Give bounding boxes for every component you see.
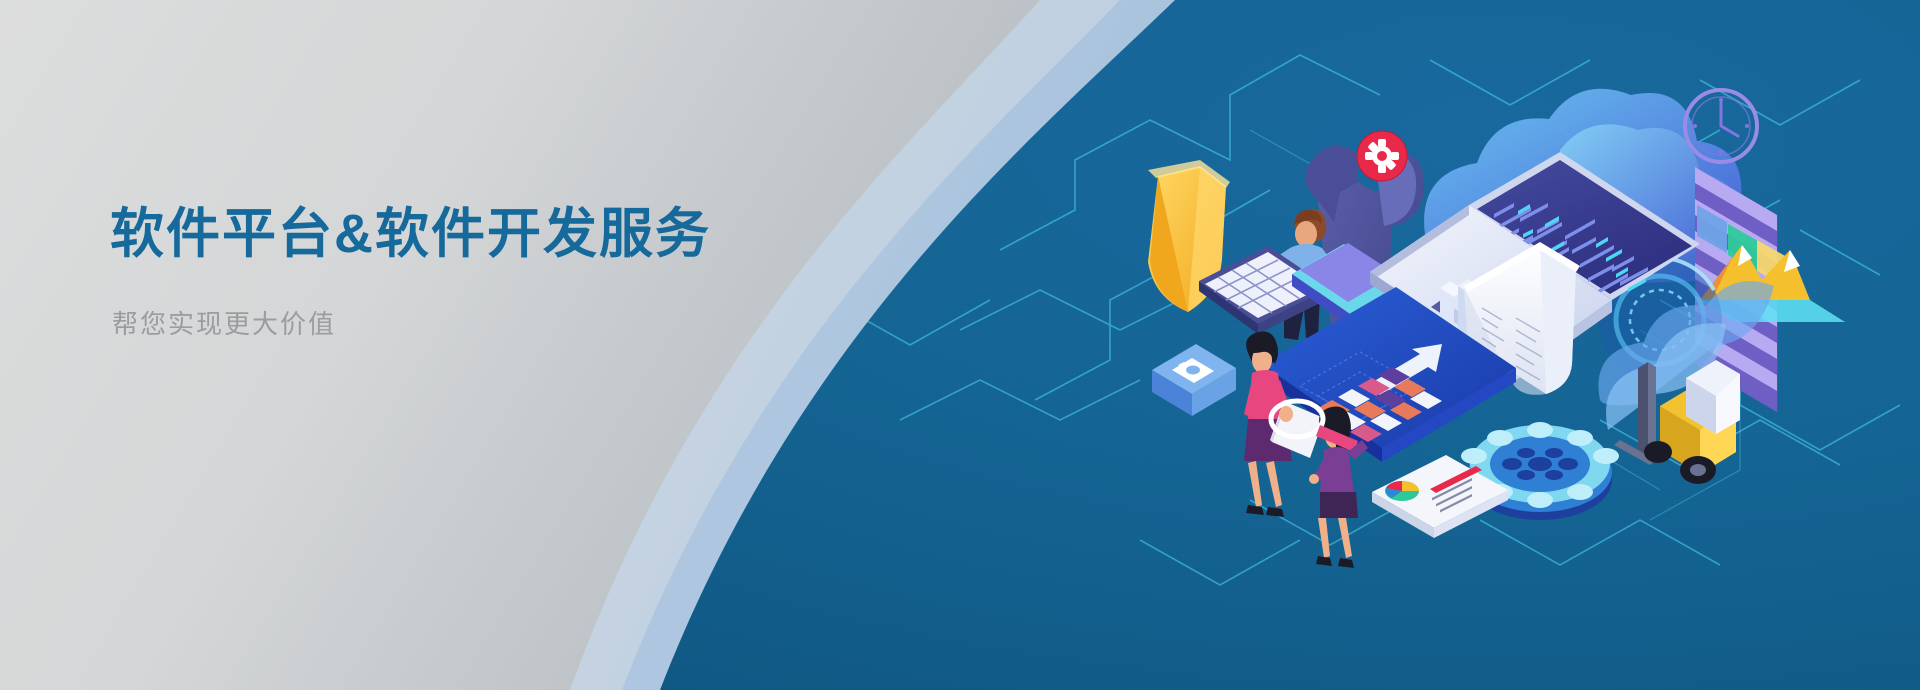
hero-banner: 软件平台&软件开发服务 帮您实现更大价值: [0, 0, 1920, 690]
hero-copy: 软件平台&软件开发服务 帮您实现更大价值: [110, 205, 711, 341]
page-title: 软件平台&软件开发服务: [110, 205, 711, 264]
gray-wave-panel: [0, 0, 1920, 690]
page-subtitle: 帮您实现更大价值: [112, 304, 711, 341]
